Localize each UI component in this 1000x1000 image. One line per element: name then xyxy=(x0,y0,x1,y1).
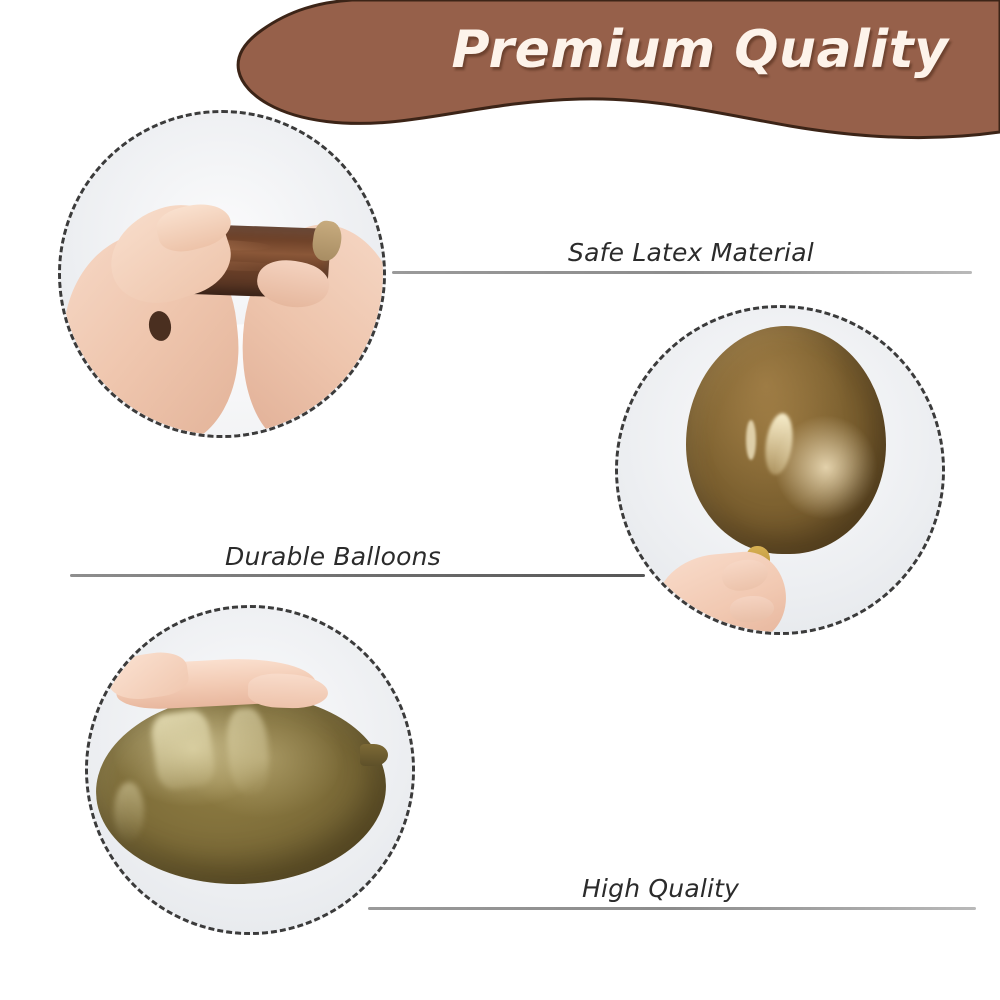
feature-label-durable-balloons: Durable Balloons xyxy=(225,542,441,571)
balloon-highlight-edge xyxy=(114,782,144,842)
product-feature-infographic: Premium Quality Safe Latex Material xyxy=(0,0,1000,1000)
feature-label-high-quality: High Quality xyxy=(582,874,739,903)
balloon-highlight-secondary xyxy=(746,420,756,460)
feature-circle-high-quality xyxy=(85,605,415,935)
feature-circle-safe-latex-material xyxy=(58,110,386,438)
feature-image-safe-latex-material xyxy=(61,113,383,435)
banner-title: Premium Quality xyxy=(420,20,980,80)
feature-image-high-quality xyxy=(88,608,412,932)
balloon-highlight-primary xyxy=(149,708,217,791)
connector-line-high-quality xyxy=(368,907,976,910)
connector-line-safe-latex-material xyxy=(392,271,972,274)
feature-circle-durable-balloons xyxy=(615,305,945,635)
feature-image-durable-balloons xyxy=(618,308,942,632)
connector-line-durable-balloons xyxy=(70,574,645,577)
feature-label-safe-latex-material: Safe Latex Material xyxy=(568,238,814,267)
balloon-neck xyxy=(360,744,388,766)
